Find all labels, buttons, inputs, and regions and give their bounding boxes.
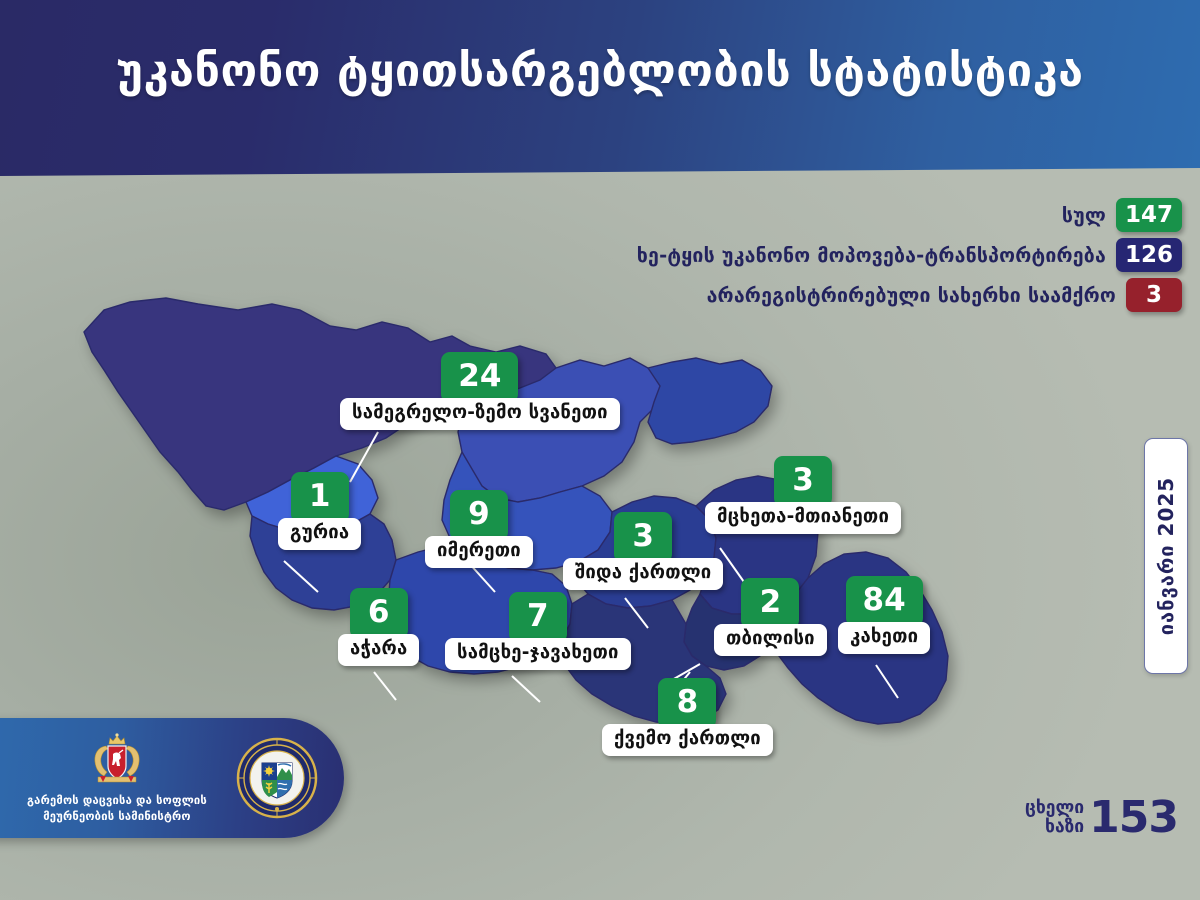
page-title: უკანონო ტყითსარგებლობის სტატისტიკა xyxy=(0,48,1200,93)
legend-label-total: სულ xyxy=(1062,204,1106,227)
legend-label-unregistered-sawmill: არარეგისტრირებული სახერხი საამქრო xyxy=(707,284,1116,307)
marker-guria[interactable]: 1 გურია xyxy=(278,472,361,550)
marker-samtskhe-javakheti[interactable]: 7 სამცხე-ჯავახეთი xyxy=(445,592,631,670)
region-racha-lechkhumi xyxy=(648,358,772,444)
marker-label-mtskheta-mtianeti: მცხეთა-მთიანეთი xyxy=(705,502,901,534)
marker-count-shida-kartli: 3 xyxy=(614,512,672,563)
marker-label-samegrelo-zemo-svaneti: სამეგრელო-ზემო სვანეთი xyxy=(340,398,620,430)
marker-kakheti[interactable]: 84 კახეთი xyxy=(838,576,930,654)
marker-adjara[interactable]: 6 აჭარა xyxy=(338,588,419,666)
legend: სულ 147 ხე-ტყის უკანონო მოპოვება-ტრანსპო… xyxy=(637,198,1182,312)
marker-label-kakheti: კახეთი xyxy=(838,622,930,654)
legend-label-illegal-logging-transport: ხე-ტყის უკანონო მოპოვება-ტრანსპორტირება xyxy=(637,244,1106,267)
marker-tbilisi[interactable]: 2 თბილისი xyxy=(714,578,827,656)
marker-count-samegrelo-zemo-svaneti: 24 xyxy=(441,352,518,403)
marker-label-guria: გურია xyxy=(278,518,361,550)
date-tag-label: იანვარი 2025 xyxy=(1154,477,1178,635)
marker-count-imereti: 9 xyxy=(450,490,508,541)
marker-count-guria: 1 xyxy=(291,472,349,523)
georgia-coat-of-arms-icon xyxy=(86,732,148,788)
ministry-name-line1: გარემოს დაცვისა და სოფლის xyxy=(27,794,207,807)
marker-count-samtskhe-javakheti: 7 xyxy=(509,592,567,643)
hotline-number: 153 xyxy=(1089,798,1178,838)
header-banner: უკანონო ტყითსარგებლობის სტატისტიკა xyxy=(0,0,1200,176)
legend-badge-illegal-logging-transport: 126 xyxy=(1116,238,1182,272)
ministry-seal-icon xyxy=(236,737,318,819)
date-tag: იანვარი 2025 xyxy=(1144,438,1188,674)
ministry-bar: გარემოს დაცვისა და სოფლის მეურნეობის სამ… xyxy=(0,718,344,838)
ministry-name: გარემოს დაცვისა და სოფლის მეურნეობის სამ… xyxy=(27,793,207,825)
marker-count-kvemo-kartli: 8 xyxy=(658,678,716,729)
hotline-word-1: ცხელი xyxy=(1025,799,1084,817)
legend-row-total: სულ 147 xyxy=(1062,198,1182,232)
marker-label-adjara: აჭარა xyxy=(338,634,419,666)
marker-count-tbilisi: 2 xyxy=(741,578,799,629)
marker-mtskheta-mtianeti[interactable]: 3 მცხეთა-მთიანეთი xyxy=(705,456,901,534)
legend-badge-total: 147 xyxy=(1116,198,1182,232)
marker-label-kvemo-kartli: ქვემო ქართლი xyxy=(602,724,773,756)
marker-kvemo-kartli[interactable]: 8 ქვემო ქართლი xyxy=(602,678,773,756)
marker-count-kakheti: 84 xyxy=(846,576,923,627)
infographic-root: უკანონო ტყითსარგებლობის სტატისტიკა სულ 1… xyxy=(0,0,1200,900)
marker-label-imereti: იმერეთი xyxy=(425,536,533,568)
marker-shida-kartli[interactable]: 3 შიდა ქართლი xyxy=(563,512,723,590)
legend-row-unregistered-sawmill: არარეგისტრირებული სახერხი საამქრო 3 xyxy=(707,278,1182,312)
marker-label-samtskhe-javakheti: სამცხე-ჯავახეთი xyxy=(445,638,631,670)
marker-count-adjara: 6 xyxy=(350,588,408,639)
marker-label-tbilisi: თბილისი xyxy=(714,624,827,656)
legend-badge-unregistered-sawmill: 3 xyxy=(1126,278,1182,312)
hotline: ცხელი ხაზი 153 xyxy=(1025,798,1178,838)
marker-label-shida-kartli: შიდა ქართლი xyxy=(563,558,723,590)
hotline-word-2: ხაზი xyxy=(1025,818,1084,836)
marker-imereti[interactable]: 9 იმერეთი xyxy=(425,490,533,568)
legend-row-illegal-logging-transport: ხე-ტყის უკანონო მოპოვება-ტრანსპორტირება … xyxy=(637,238,1182,272)
marker-samegrelo-zemo-svaneti[interactable]: 24 სამეგრელო-ზემო სვანეთი xyxy=(340,352,620,430)
ministry-name-line2: მეურნეობის სამინისტრო xyxy=(43,810,191,823)
marker-count-mtskheta-mtianeti: 3 xyxy=(774,456,832,507)
